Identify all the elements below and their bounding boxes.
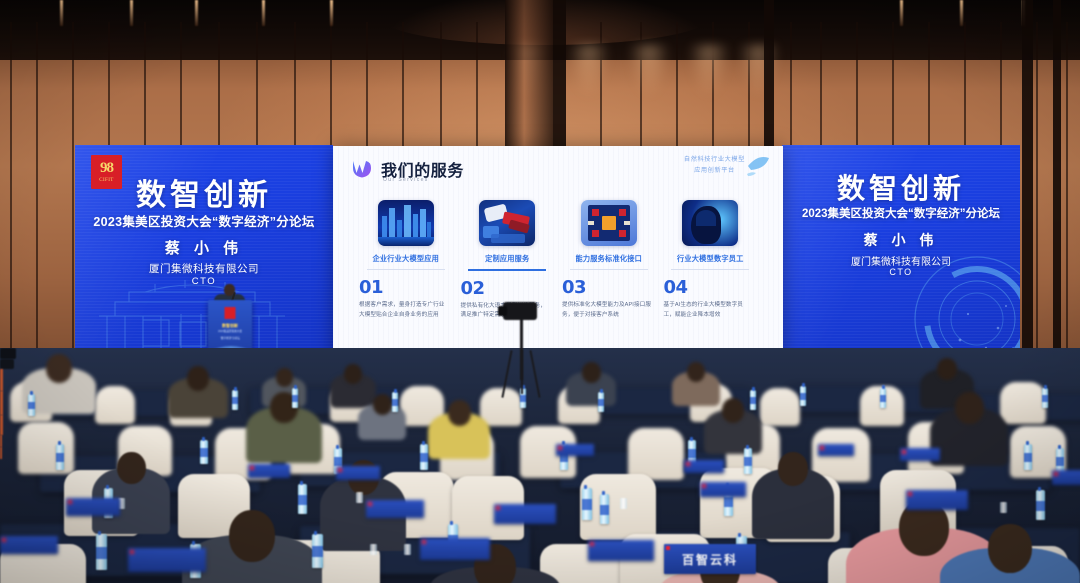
drinking-glass <box>404 544 411 555</box>
service-card-number: 01 <box>355 277 457 298</box>
water-bottle <box>880 388 886 408</box>
banner-subtitle-left: 2023集美区投资大会“数字经济”分论坛 <box>75 211 333 230</box>
service-card[interactable]: 能力服务标准化接口 03 提供标准化大模型能力及API接口服务，便于对接客户系统 <box>558 200 660 321</box>
drinking-glass <box>1000 502 1007 513</box>
service-card-number: 04 <box>660 277 762 298</box>
placard-logo-icon <box>666 546 670 550</box>
bottle-label <box>96 547 107 559</box>
name-placard <box>336 466 380 480</box>
water-bottle <box>312 534 323 568</box>
placard-logo-icon <box>250 466 254 470</box>
gate-line-art-graphic <box>85 264 300 356</box>
bottle-label <box>28 402 35 409</box>
conference-hall-photo: 98 CIFIT 数智创新 2023集美区投资大会“数字经济”分论坛 蔡 小 伟… <box>0 0 1080 583</box>
podium-subtitle-2: “数字经济”分论坛 <box>208 337 252 341</box>
water-bottle <box>1042 388 1048 408</box>
wall-slat <box>1036 22 1038 370</box>
placard-logo-icon <box>1054 472 1058 476</box>
bottle-label <box>1024 453 1032 462</box>
service-card-list: 企业行业大模型应用 01 根据客户需求，量身打造专广行业大模型贴合企业自身业务的… <box>355 200 761 321</box>
lanyard <box>0 391 3 415</box>
water-bottle <box>56 444 64 470</box>
watermark-line-2: 应用创新平台 <box>684 166 745 177</box>
water-bottle <box>750 390 756 410</box>
water-bottle <box>598 392 604 412</box>
slide-watermark: 自然科技行业大模型 应用创新平台 <box>684 155 745 176</box>
drinking-glass <box>356 492 363 503</box>
bottle-label <box>800 393 806 400</box>
bottle-label <box>392 399 398 406</box>
water-bottle <box>800 386 806 406</box>
banner-subtitle-right: 2023集美区投资大会“数字经济”分论坛 <box>782 205 1020 221</box>
audience-chair <box>628 428 684 480</box>
water-bottle <box>600 494 609 524</box>
audience-person-head <box>117 452 146 484</box>
lanyard <box>0 415 3 435</box>
water-bottle <box>28 394 35 416</box>
bottle-label <box>420 453 428 462</box>
placard-logo-icon <box>368 502 372 506</box>
bottle-label <box>598 399 604 406</box>
ceiling-spotlight <box>262 0 265 26</box>
wall-slat <box>10 22 12 370</box>
audience-person-head <box>687 362 705 382</box>
bottle-label <box>582 499 592 510</box>
name-placard <box>494 504 556 524</box>
placard-logo-icon <box>496 506 500 510</box>
led-screen-left: 98 CIFIT 数智创新 2023集美区投资大会“数字经济”分论坛 蔡 小 伟… <box>75 145 333 360</box>
service-card-description: 基于AI生态的行业大模型数字员工，赋能企业降本增效 <box>660 301 762 321</box>
lanyard <box>0 447 2 459</box>
audience-person-head <box>448 400 471 426</box>
audience-person-head <box>46 354 72 383</box>
placard-logo-icon <box>558 446 562 450</box>
audience-person-head <box>229 510 275 562</box>
wall-pillar-edge-far-right <box>1022 0 1033 370</box>
attendee-phone-2 <box>0 359 14 369</box>
service-card-rule <box>570 269 648 270</box>
water-bottle <box>582 488 592 520</box>
name-placard <box>588 540 654 561</box>
bottle-label <box>334 457 342 466</box>
water-bottle <box>200 440 208 464</box>
city-skyline-thumbnail <box>378 200 434 246</box>
name-placard <box>556 444 594 456</box>
attendee-phone <box>0 348 16 359</box>
name-placard <box>900 448 940 461</box>
led-screen-right: 数智创新 2023集美区投资大会“数字经济”分论坛 蔡 小 伟 厦门集微科技有限… <box>782 145 1020 360</box>
banner-speaker-name-left: 蔡 小 伟 <box>75 237 333 258</box>
audience-person-head <box>778 452 808 486</box>
video-camera-lens <box>498 306 507 316</box>
audience-person-head <box>582 362 601 383</box>
name-placard <box>366 500 424 518</box>
water-bottle <box>96 534 107 570</box>
bottle-label <box>312 546 323 558</box>
ceiling-spotlight <box>195 0 198 26</box>
name-placard <box>66 498 120 516</box>
audience-area: 百智云科 <box>0 348 1080 583</box>
swoosh-icon <box>745 154 771 178</box>
water-bottle <box>420 444 428 470</box>
watermark-line-1: 自然科技行业大模型 <box>684 155 745 166</box>
water-bottle <box>1036 490 1045 520</box>
wall-pillar-edge-far-right-2 <box>1053 0 1061 370</box>
service-card[interactable]: 行业大模型数字员工 04 基于AI生态的行业大模型数字员工，赋能企业降本增效 <box>660 200 762 321</box>
service-card-description: 提供标准化大模型能力及API接口服务，便于对接客户系统 <box>558 301 660 321</box>
service-card-label: 企业行业大模型应用 <box>355 254 457 264</box>
bottle-label <box>56 453 64 462</box>
circular-tech-graphic <box>902 244 1020 360</box>
audience-chair <box>1000 382 1046 424</box>
bottle-label <box>1036 501 1045 511</box>
name-placard <box>684 460 724 473</box>
service-card-label: 定制应用服务 <box>457 254 559 264</box>
name-placard-featured: 百智云科 <box>664 544 756 574</box>
placard-logo-icon <box>68 500 72 504</box>
bottle-label <box>1042 395 1048 402</box>
audience-person-head <box>937 358 957 380</box>
ceiling-spotlight <box>130 0 133 26</box>
audience-chair <box>760 388 800 426</box>
placard-logo-icon <box>2 538 6 542</box>
audience-person-head <box>187 366 209 391</box>
service-card-rule <box>367 269 445 270</box>
drinking-glass <box>620 498 627 509</box>
placard-logo-icon <box>820 446 824 450</box>
bottle-label <box>200 448 208 456</box>
service-card-description: 根据客户需求，量身打造专广行业大模型贴合企业自身业务的应用 <box>355 301 457 321</box>
company-logo-icon <box>350 156 375 181</box>
water-bottle <box>744 448 752 474</box>
placard-logo-icon <box>902 450 906 454</box>
lanyard <box>0 369 3 391</box>
name-placard <box>0 536 58 554</box>
wall-slat <box>36 22 38 370</box>
water-bottle <box>232 390 238 410</box>
ceiling-spotlight <box>60 0 63 26</box>
banner-main-title-right: 数智创新 <box>782 167 1020 207</box>
audience-chair <box>95 386 135 424</box>
wall-slat <box>1066 22 1068 370</box>
lanyard <box>0 435 2 447</box>
service-card[interactable]: 企业行业大模型应用 01 根据客户需求，量身打造专广行业大模型贴合企业自身业务的… <box>355 200 457 321</box>
water-bottle <box>292 388 298 408</box>
bottle-label <box>724 497 733 507</box>
tech-workbench-thumbnail <box>479 200 535 246</box>
bottle-label <box>688 449 696 458</box>
ceiling-spotlight <box>900 0 903 26</box>
podium-subtitle-1: 2023集美区投资大会 <box>208 330 252 334</box>
audience-person-head <box>722 398 744 423</box>
name-placard <box>818 444 854 456</box>
presentation-slide: 我们的服务 Our Services 自然科技行业大模型 应用创新平台 企业行业… <box>333 146 783 360</box>
service-card-rule <box>468 269 546 271</box>
placard-logo-icon <box>702 484 706 488</box>
placard-text: 百智云科 <box>682 551 738 568</box>
name-placard <box>128 548 206 572</box>
audience-person-head <box>955 392 984 424</box>
service-card-label: 能力服务标准化接口 <box>558 254 660 264</box>
podium-title: 数智创新 <box>208 323 252 329</box>
audience-person-head <box>373 394 392 415</box>
placard-logo-icon <box>686 462 690 466</box>
bottle-label <box>750 397 756 404</box>
audience-person-head <box>344 364 362 384</box>
podium-logo-icon <box>225 307 236 319</box>
banner-main-title-left: 数智创新 <box>75 170 333 214</box>
drinking-glass <box>370 544 377 555</box>
service-card-number: 03 <box>558 277 660 298</box>
water-bottle <box>1024 444 1032 470</box>
name-placard <box>248 464 290 478</box>
circuit-chip-thumbnail <box>581 200 637 246</box>
ceiling-spotlight <box>960 0 963 26</box>
name-placard <box>906 490 968 510</box>
wall-slat <box>72 22 74 370</box>
bottle-label <box>232 397 238 404</box>
slide-title-en: Our Services <box>383 177 429 183</box>
placard-logo-icon <box>422 540 426 544</box>
placard-logo-icon <box>590 542 594 546</box>
audience-person-head <box>988 524 1032 573</box>
name-placard <box>700 482 746 497</box>
placard-logo-icon <box>908 492 912 496</box>
service-card-rule <box>671 269 749 270</box>
service-card-label: 行业大模型数字员工 <box>660 254 762 264</box>
audience-chair <box>18 422 74 474</box>
bottle-label <box>1056 457 1064 466</box>
audience-person-head <box>276 368 293 387</box>
video-camera-body <box>503 302 537 320</box>
bottle-label <box>520 395 526 402</box>
bottle-label <box>880 395 886 402</box>
placard-logo-icon <box>130 550 134 554</box>
placard-logo-icon <box>338 468 342 472</box>
bottle-label <box>298 495 307 505</box>
ai-head-thumbnail <box>682 200 738 246</box>
name-placard <box>420 538 490 560</box>
bottle-label <box>744 457 752 466</box>
tripod-pole <box>520 318 523 380</box>
water-bottle <box>392 392 398 412</box>
bottle-label <box>600 505 609 515</box>
service-card-number: 02 <box>457 278 559 299</box>
bottle-label <box>292 395 298 402</box>
water-bottle <box>298 484 307 514</box>
name-placard <box>1052 470 1080 485</box>
ceiling-spotlight <box>330 0 333 26</box>
